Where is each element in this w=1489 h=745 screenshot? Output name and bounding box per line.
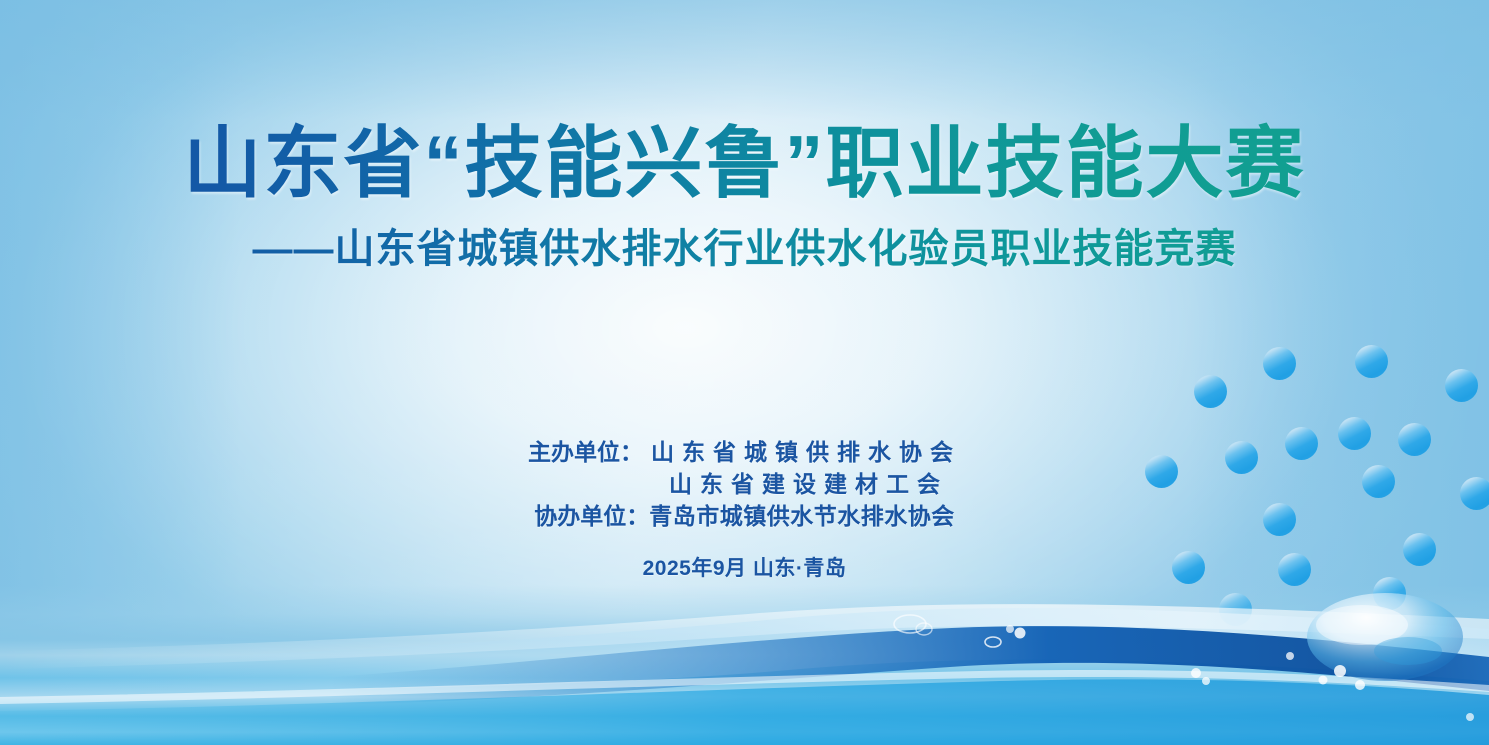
sub-title: ——山东省城镇供水排水行业供水化验员职业技能竞赛 bbox=[0, 225, 1489, 273]
small-bubble bbox=[1286, 652, 1294, 660]
small-bubble bbox=[1334, 665, 1346, 677]
cohost-label: 协办单位： bbox=[534, 503, 649, 529]
cohost-value: 青岛市城镇供水节水排水协会 bbox=[649, 503, 955, 529]
wave-svg bbox=[0, 585, 1489, 745]
poster-canvas: 山东省“技能兴鲁”职业技能大赛 ——山东省城镇供水排水行业供水化验员职业技能竞赛… bbox=[0, 0, 1489, 745]
small-bubble bbox=[1191, 668, 1201, 678]
host-line-1: 主办单位：山东省城镇供排水协会 bbox=[0, 436, 1489, 468]
bubble-shadow bbox=[1374, 637, 1442, 665]
host-value-2: 山东省建设建材工会 bbox=[661, 471, 948, 497]
water-wave-graphic bbox=[0, 585, 1489, 745]
organizer-block: 主办单位：山东省城镇供排水协会 山东省建设建材工会 协办单位：青岛市城镇供水节水… bbox=[0, 436, 1489, 532]
host-line-2: 山东省建设建材工会 bbox=[0, 468, 1489, 500]
cohost-line: 协办单位：青岛市城镇供水节水排水协会 bbox=[0, 500, 1489, 532]
small-bubble bbox=[1006, 625, 1014, 633]
main-title: 山东省“技能兴鲁”职业技能大赛 bbox=[0, 120, 1489, 207]
small-bubble bbox=[1466, 713, 1474, 721]
date-location-line: 2025年9月 山东·青岛 bbox=[0, 552, 1489, 582]
small-bubble bbox=[1015, 628, 1026, 639]
small-bubble bbox=[1319, 676, 1328, 685]
small-bubble bbox=[1355, 680, 1365, 690]
host-label: 主办单位： bbox=[528, 439, 643, 465]
host-value-1: 山东省城镇供排水协会 bbox=[643, 439, 961, 465]
title-block: 山东省“技能兴鲁”职业技能大赛 ——山东省城镇供水排水行业供水化验员职业技能竞赛 bbox=[0, 120, 1489, 273]
small-bubble bbox=[1202, 677, 1210, 685]
